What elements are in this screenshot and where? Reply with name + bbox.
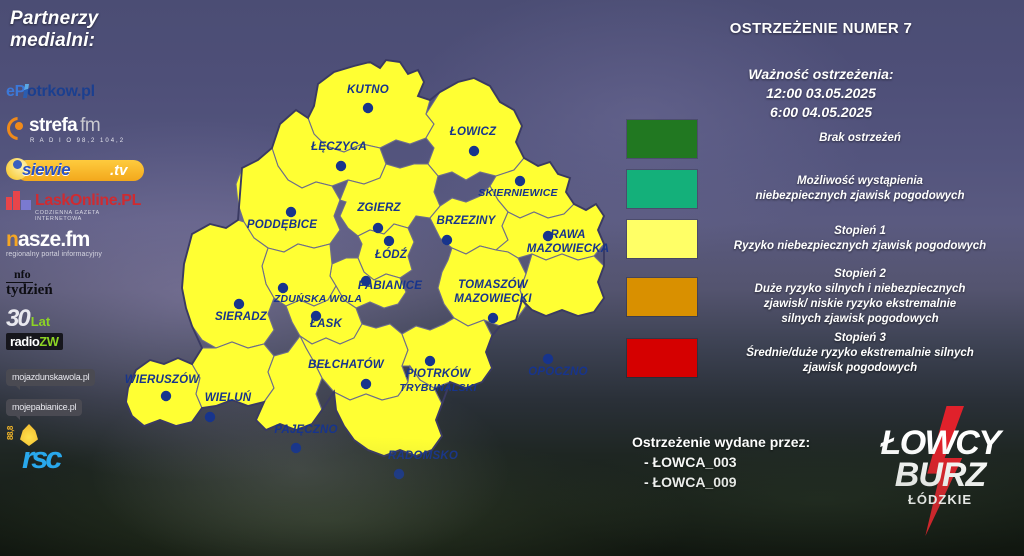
city-dot xyxy=(425,356,435,366)
rsc-wordmark: rsc xyxy=(22,440,60,476)
brand-line-2: BURZ xyxy=(856,458,1024,492)
city-dot xyxy=(384,236,394,246)
legend-level-2-line4: silnych zjawisk pogodowych xyxy=(704,312,1016,327)
legend-level-1-line1: Stopień 1 xyxy=(704,224,1016,239)
city-label: ŁÓDŹ xyxy=(374,248,408,261)
city-dot xyxy=(278,283,288,293)
city-label: ŁĘCZYCA xyxy=(310,141,367,153)
legend-level-2-line3: zjawisk/ niskie ryzyko ekstremalnie xyxy=(704,297,1016,312)
county-shapes xyxy=(126,60,604,456)
legend-label-none: Brak ostrzeżeń xyxy=(704,131,1016,146)
legend-row-none: Brak ostrzeżeń xyxy=(618,120,1024,160)
legend-label-level-1: Stopień 1 Ryzyko niebezpiecznych zjawisk… xyxy=(704,224,1016,254)
legend-level-2-line1: Stopień 2 xyxy=(704,267,1016,282)
city-label: SKIERNIEWICE xyxy=(478,187,558,199)
legend-level-3-line2: Średnie/duże ryzyko ekstremalnie silnych xyxy=(704,346,1016,361)
legend-swatch-level-2 xyxy=(627,278,697,316)
brand-line-3: ŁÓDZKIE xyxy=(856,492,1024,507)
city-label: PAJĘCZNO xyxy=(274,424,337,436)
city-dot xyxy=(442,235,452,245)
issuer-block: Ostrzeżenie wydane przez: - ŁOWCA_003 - … xyxy=(632,432,862,492)
legend-level-1-line2: Ryzyko niebezpiecznych zjawisk pogodowyc… xyxy=(704,239,1016,254)
nasze-fm-initial: n xyxy=(6,228,18,251)
lowcy-burz-logo[interactable]: ŁOWCY BURZ ŁÓDZKIE xyxy=(856,408,1024,540)
city-dot xyxy=(373,223,383,233)
legend-none-line1: Brak ostrzeżeń xyxy=(819,132,901,144)
city-label: MAZOWIECKI xyxy=(454,293,532,305)
radio-zw-years: 30 xyxy=(6,305,29,332)
issuer-person-1: - ŁOWCA_003 xyxy=(632,452,862,472)
media-partners-heading-line1: Partnerzy xyxy=(10,8,150,30)
radio-zw-radio: radio xyxy=(10,334,39,349)
legend-swatch-possible xyxy=(627,170,697,208)
strefa-fm-logo-word2: fm xyxy=(80,115,100,137)
city-dot xyxy=(291,443,301,453)
legend-label-possible: Możliwość wystąpienia niebezpiecznych zj… xyxy=(704,174,1016,204)
city-label: BRZEZINY xyxy=(436,215,496,227)
epiotrkow-logo-suffix: otrkow.pl xyxy=(27,83,95,100)
legend-row-level-3: Stopień 3 Średnie/duże ryzyko ekstremaln… xyxy=(618,337,1024,383)
legend-label-level-3: Stopień 3 Średnie/duże ryzyko ekstremaln… xyxy=(704,331,1016,376)
validity-label: Ważność ostrzeżenia: xyxy=(618,65,1024,84)
city-label: ŁASK xyxy=(309,318,343,330)
city-label: RADOMSKO xyxy=(388,450,458,462)
city-label: ZGIERZ xyxy=(356,202,401,214)
city-dot xyxy=(336,161,346,171)
legend-swatch-none xyxy=(627,120,697,158)
city-label: ZDUŃSKA WOLA xyxy=(273,292,362,305)
city-dot xyxy=(161,391,171,401)
radio-wave-icon xyxy=(6,116,26,136)
legend-row-level-2: Stopień 2 Duże ryzyko silnych i niebezpi… xyxy=(618,275,1024,325)
legend-swatch-level-3 xyxy=(627,339,697,377)
epiotrkow-logo-prefix: eP xyxy=(6,83,25,100)
city-dot xyxy=(394,469,404,479)
legend-possible-line2: niebezpiecznych zjawisk pogodowych xyxy=(704,189,1016,204)
mojazdunskawola-logo[interactable]: mojazdunskawola.pl xyxy=(6,369,95,386)
media-partners-heading: Partnerzy medialni: xyxy=(10,8,150,52)
legend-level-2-line2: Duże ryzyko silnych i niebezpiecznych xyxy=(704,282,1016,297)
radio-zw-initials: ZW xyxy=(39,334,58,349)
city-label: PODDĘBICE xyxy=(247,219,317,231)
issuer-label: Ostrzeżenie wydane przez: xyxy=(632,432,862,452)
validity-from: 12:00 03.05.2025 xyxy=(618,84,1024,103)
city-dot xyxy=(515,176,525,186)
radio-zw-lat: Lat xyxy=(31,314,51,329)
city-label: WIERUSZÓW xyxy=(125,373,201,386)
strefa-fm-logo-word1: strefa xyxy=(29,115,77,137)
city-label: TRYBUNALSKI xyxy=(399,382,477,394)
city-dot xyxy=(205,412,215,422)
legend-level-3-line1: Stopień 3 xyxy=(704,331,1016,346)
mojepabianice-logo[interactable]: mojepabianice.pl xyxy=(6,399,82,416)
legend-label-level-2: Stopień 2 Duże ryzyko silnych i niebezpi… xyxy=(704,267,1016,327)
brand-line-1: ŁOWCY xyxy=(856,426,1024,460)
city-dot xyxy=(469,146,479,156)
legend-swatch-level-1 xyxy=(627,220,697,258)
siewie-tv-word: siewie xyxy=(22,160,70,180)
legend-possible-line1: Możliwość wystąpienia xyxy=(704,174,1016,189)
city-label: SIERADZ xyxy=(215,311,268,323)
city-dot xyxy=(234,299,244,309)
city-label: OPOCZNO xyxy=(528,366,588,378)
city-dot xyxy=(488,313,498,323)
buildings-icon xyxy=(6,190,32,210)
city-dot xyxy=(361,379,371,389)
city-label: PABIANICE xyxy=(358,280,422,292)
issuer-person-2: - ŁOWCA_009 xyxy=(632,472,862,492)
city-label: RAWA xyxy=(550,229,585,241)
city-label: PIOTRKÓW xyxy=(406,367,472,380)
validity-block: Ważność ostrzeżenia: 12:00 03.05.2025 6:… xyxy=(618,65,1024,122)
city-label: ŁOWICZ xyxy=(449,126,497,138)
info-tydzien-word1: nfo xyxy=(6,267,33,283)
city-dot xyxy=(286,207,296,217)
city-label: MAZOWIECKA xyxy=(527,243,610,255)
legend-level-3-line3: zjawisk pogodowych xyxy=(704,361,1016,376)
city-dot xyxy=(363,103,373,113)
city-label: KUTNO xyxy=(347,84,389,96)
city-label: WIELUŃ xyxy=(205,391,252,404)
nasze-fm-rest: asze.fm xyxy=(18,228,89,251)
rsc-frequency: 88,8 xyxy=(6,426,15,440)
weather-warning-graphic: Partnerzy medialni: ePotrkow.pl strefa f… xyxy=(0,0,1024,556)
legend-row-level-1: Stopień 1 Ryzyko niebezpiecznych zjawisk… xyxy=(618,220,1024,260)
warning-info-panel: OSTRZEŻENIE NUMER 7 Ważność ostrzeżenia:… xyxy=(618,0,1024,556)
legend-row-possible: Możliwość wystąpienia niebezpiecznych zj… xyxy=(618,170,1024,210)
lodzkie-voivodeship-map[interactable]: KUTNOŁOWICZŁĘCZYCASKIERNIEWICEZGIERZPODD… xyxy=(118,48,618,518)
city-label: TOMASZÓW xyxy=(458,278,529,291)
page-title: OSTRZEŻENIE NUMER 7 xyxy=(618,20,1024,37)
city-dot xyxy=(543,354,553,364)
city-label: BEŁCHATÓW xyxy=(308,358,385,371)
